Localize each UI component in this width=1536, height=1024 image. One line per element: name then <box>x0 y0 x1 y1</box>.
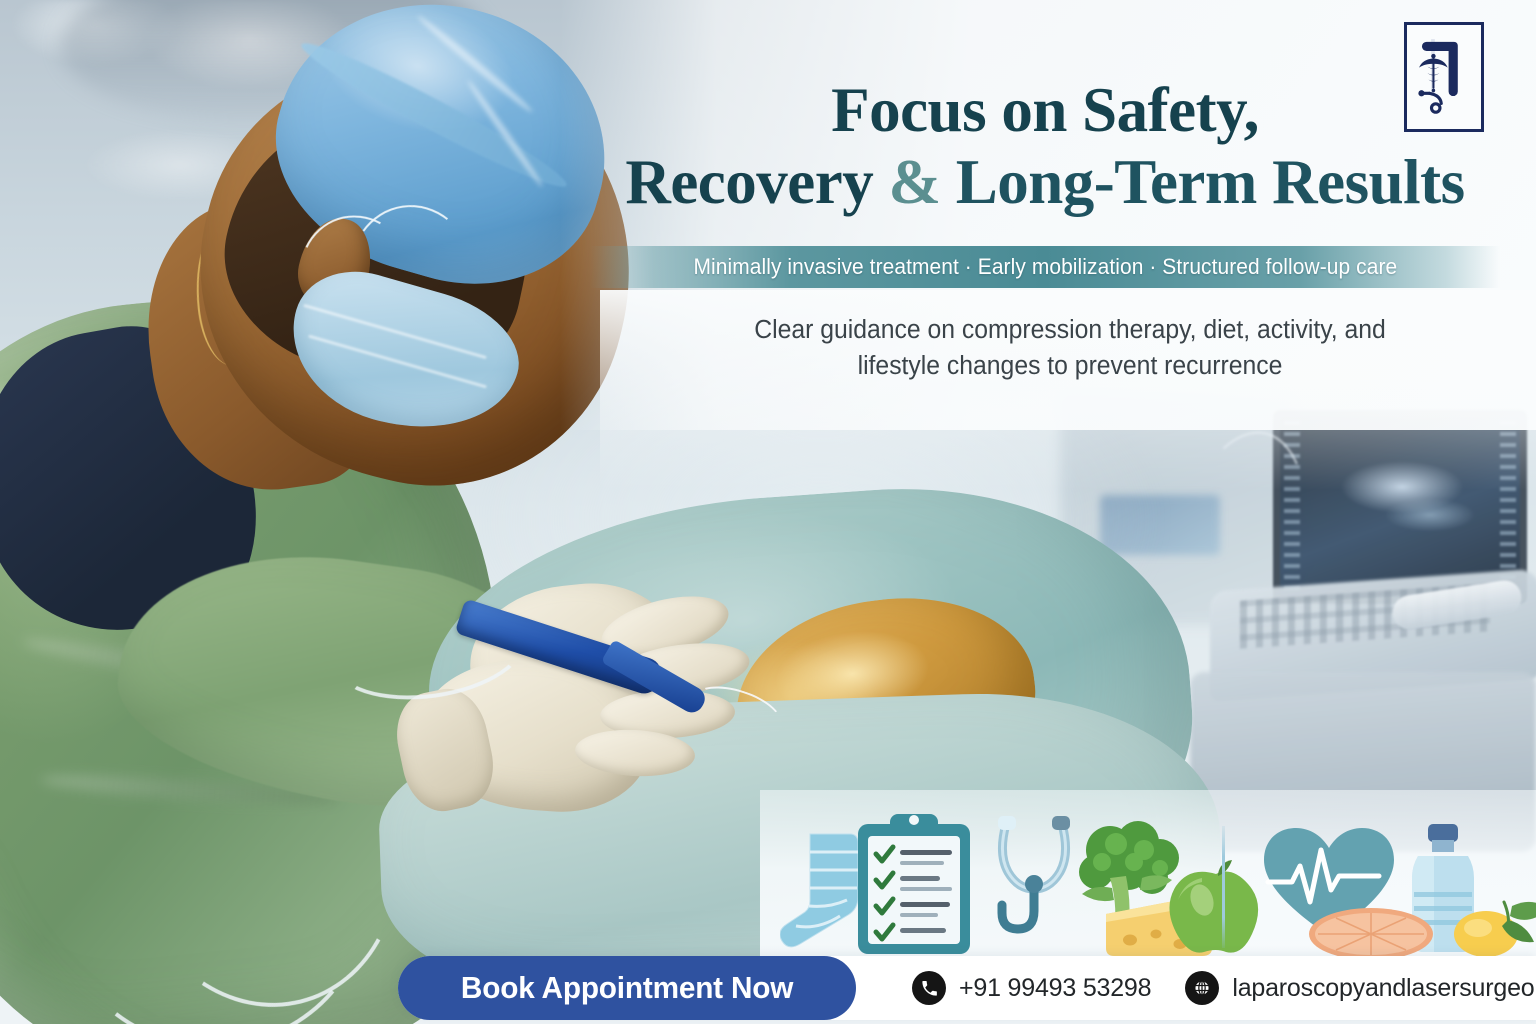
headline-line-2: Recovery & Long-Term Results <box>600 150 1490 216</box>
phone-contact[interactable]: +91 99493 53298 <box>912 971 1151 1005</box>
subheading-line-2: lifestyle changes to prevent recurrence <box>653 348 1487 384</box>
subheading: Clear guidance on compression therapy, d… <box>640 312 1500 384</box>
phone-icon <box>912 971 946 1005</box>
headline-recovery: Recovery <box>625 147 888 217</box>
icon-strip-divider <box>1222 826 1225 948</box>
feature-ribbon-text: Minimally invasive treatment · Early mob… <box>693 254 1397 280</box>
book-appointment-button[interactable]: Book Appointment Now <box>398 956 856 1020</box>
headline-ampersand: & <box>888 147 940 217</box>
clipboard-checklist-icon <box>848 812 980 958</box>
bottom-contact-bar: Book Appointment Now +91 99493 53298 <box>398 956 1536 1020</box>
globe-icon <box>1185 971 1219 1005</box>
icon-strip <box>780 808 1536 960</box>
subheading-line-1: Clear guidance on compression therapy, d… <box>653 312 1487 348</box>
phone-number: +91 99493 53298 <box>959 974 1151 1003</box>
banner-root: Focus on Safety, Recovery & Long-Term Re… <box>0 0 1536 1024</box>
book-appointment-label: Book Appointment Now <box>461 970 793 1006</box>
feature-ribbon: Minimally invasive treatment · Early mob… <box>590 246 1500 288</box>
headline-long-term-results: Long-Term Results <box>940 147 1464 217</box>
page-title: Focus on Safety, Recovery & Long-Term Re… <box>600 78 1490 215</box>
website-contact[interactable]: laparoscopyandlasersurgeons.com <box>1185 971 1536 1005</box>
website-url: laparoscopyandlasersurgeons.com <box>1232 974 1536 1003</box>
grapefruit-icon <box>1306 904 1436 960</box>
lemon-icon <box>1446 894 1536 960</box>
headline-line-1: Focus on Safety, <box>600 78 1490 144</box>
